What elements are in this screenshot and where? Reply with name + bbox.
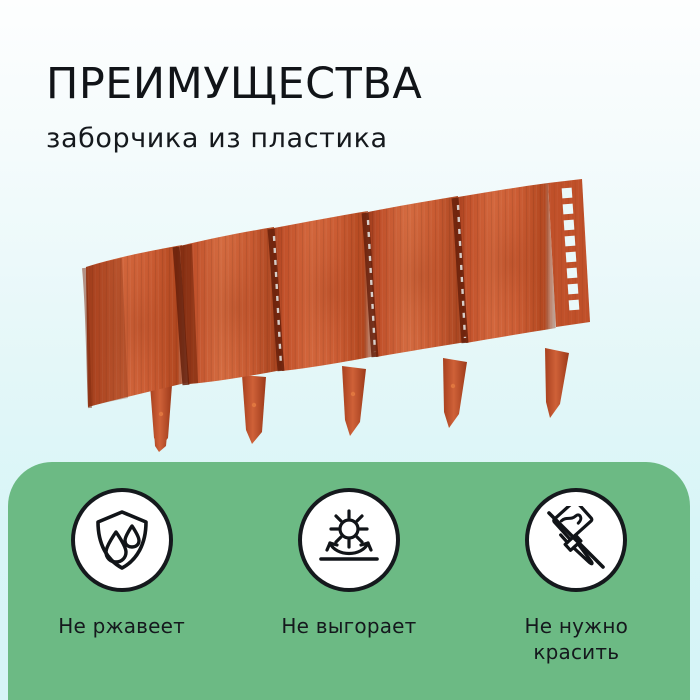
sun-deflect-icon (316, 509, 382, 571)
promo-banner: ПРЕИМУЩЕСТВА заборчика из пластика (0, 0, 700, 700)
no-paint-brush-icon (542, 506, 610, 574)
benefit-badge (71, 488, 173, 592)
benefit-item-no-rust: Не ржавеет (24, 488, 220, 640)
benefit-label: Не нужно красить (525, 614, 629, 665)
benefits-panel: Не ржавеет (8, 462, 690, 700)
shield-water-drop-icon (91, 508, 153, 572)
benefit-badge (298, 488, 400, 592)
page-title: ПРЕИМУЩЕСТВА (46, 62, 646, 107)
benefit-label: Не выгорает (281, 614, 416, 640)
benefit-badge (525, 488, 627, 592)
page-subtitle: заборчика из пластика (46, 123, 646, 154)
benefit-label: Не ржавеет (58, 614, 185, 640)
heading-block: ПРЕИМУЩЕСТВА заборчика из пластика (46, 62, 646, 154)
benefit-item-no-paint: Не нужно красить (478, 488, 674, 665)
benefit-item-no-fade: Не выгорает (251, 488, 447, 640)
fence-panels (84, 179, 590, 408)
benefits-row: Не ржавеет (8, 462, 690, 700)
product-image (0, 170, 700, 470)
